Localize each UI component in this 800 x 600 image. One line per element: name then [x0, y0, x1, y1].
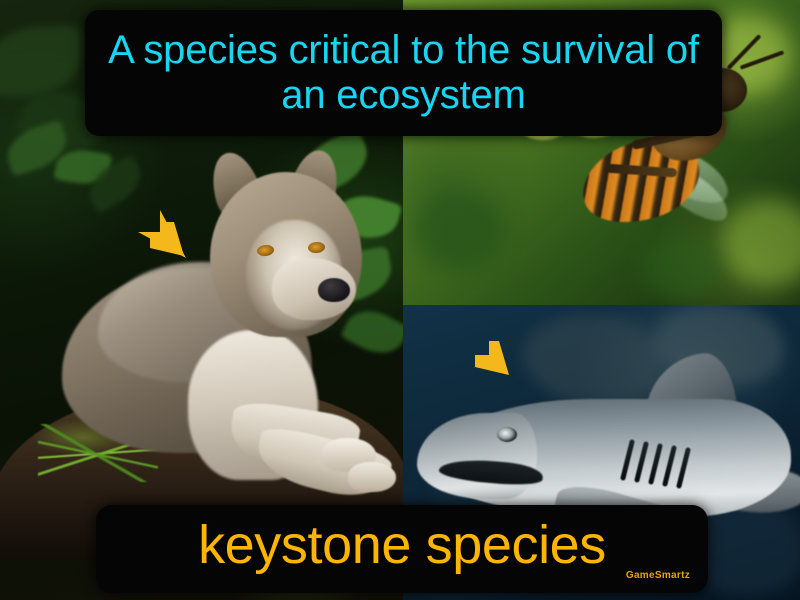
definition-box: A species critical to the survival of an…	[85, 10, 722, 136]
arrow-down-right-icon-shark	[445, 311, 521, 387]
definition-text: A species critical to the survival of an…	[85, 28, 722, 118]
watermark-logo: GameSmartz	[626, 570, 690, 581]
wolf-subject	[60, 150, 390, 520]
term-box: keystone species GameSmartz	[96, 505, 708, 593]
arrow-down-right-icon-wolf	[120, 192, 196, 268]
term-text: keystone species	[96, 507, 708, 583]
definition-card: A species critical to the survival of an…	[0, 0, 800, 600]
